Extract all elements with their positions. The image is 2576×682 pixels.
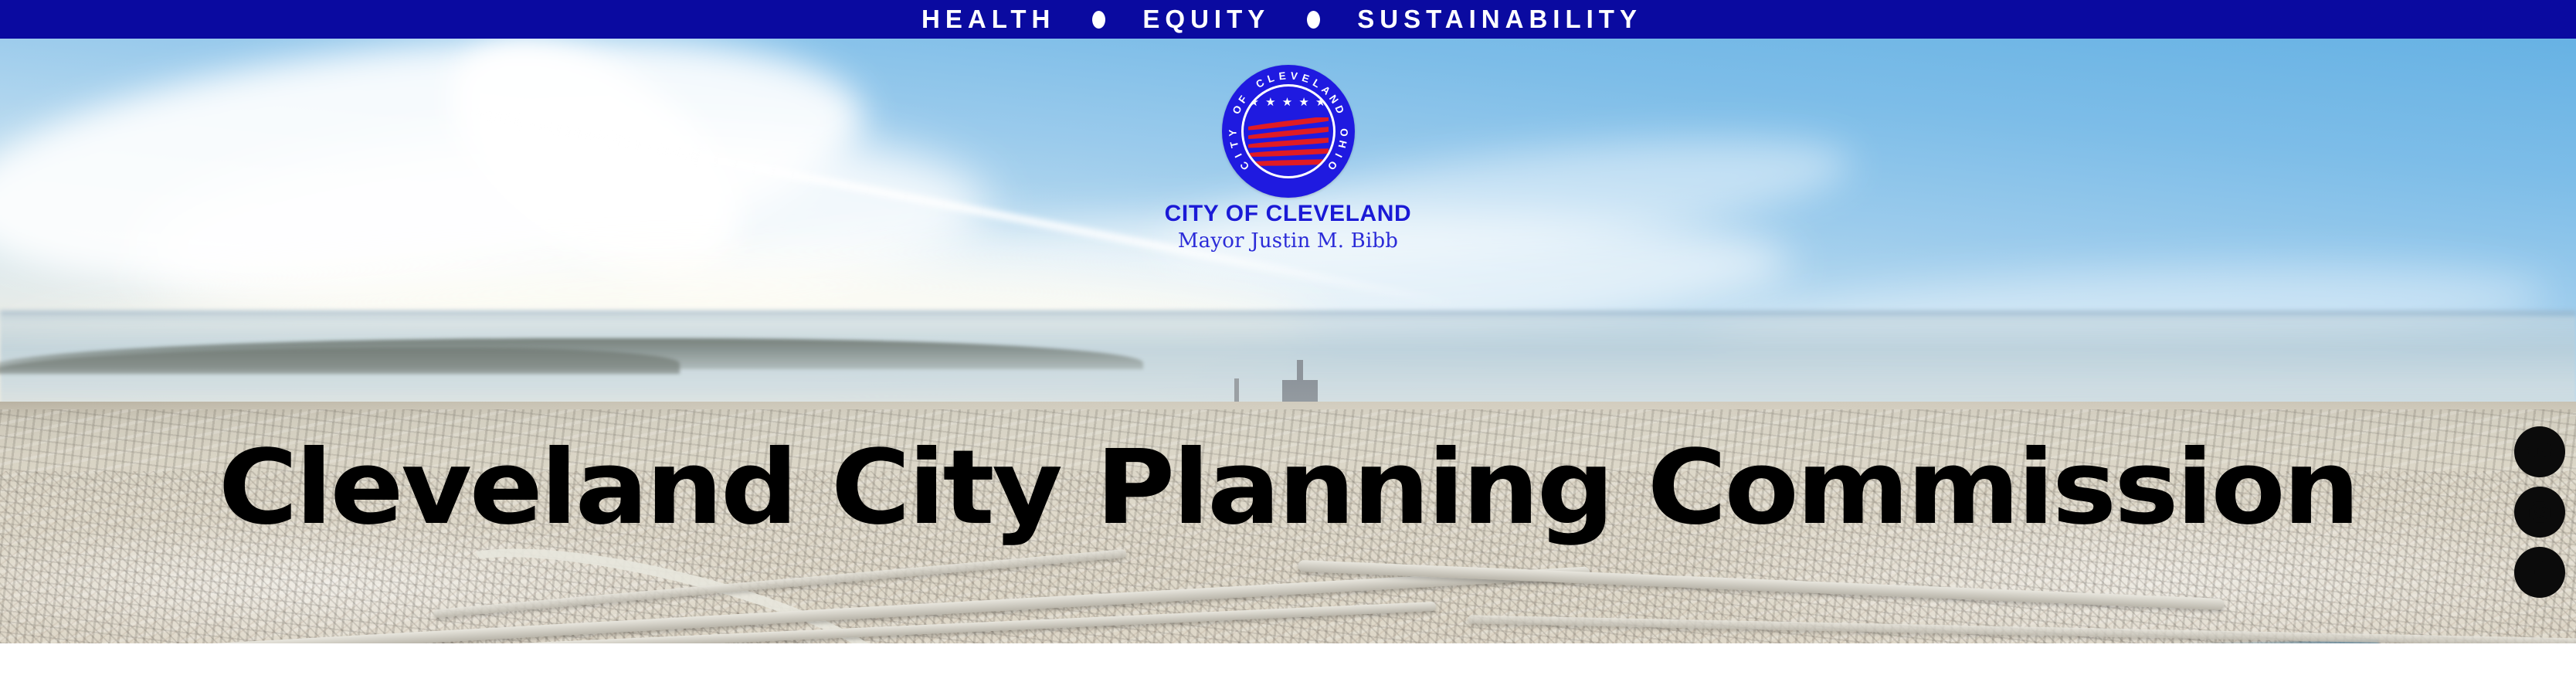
tagline-banner: HEALTH EQUITY SUSTAINABILITY bbox=[0, 0, 2576, 39]
social-links bbox=[2514, 426, 2565, 598]
city-lockup: CITY OF CLEVELAND OHIO ★ ★ ★ ★ ★ CITY OF… bbox=[0, 65, 2576, 253]
seal-stars-icon: ★ ★ ★ ★ ★ bbox=[1244, 97, 1333, 108]
city-name-label: CITY OF CLEVELAND bbox=[1165, 201, 1412, 227]
mayor-name-label: Mayor Justin M. Bibb bbox=[1178, 229, 1398, 253]
tagline-word-sustainability: SUSTAINABILITY bbox=[1357, 5, 1642, 34]
youtube-icon[interactable] bbox=[2514, 426, 2565, 477]
flag-stripe bbox=[1248, 158, 1329, 167]
city-of-cleveland-seal-icon: CITY OF CLEVELAND OHIO ★ ★ ★ ★ ★ bbox=[1222, 65, 1355, 198]
tagline-word-health: HEALTH bbox=[921, 5, 1055, 34]
bottom-white-band bbox=[0, 643, 2576, 682]
waving-flag-icon bbox=[1248, 117, 1329, 168]
tagline-group: HEALTH EQUITY SUSTAINABILITY bbox=[921, 5, 1642, 34]
bullet-dot-icon bbox=[1092, 11, 1105, 29]
facebook-icon[interactable] bbox=[2514, 547, 2565, 598]
instagram-icon[interactable] bbox=[2514, 487, 2565, 538]
page-title: Cleveland City Planning Commission bbox=[0, 437, 2576, 540]
bullet-dot-icon bbox=[1307, 11, 1320, 29]
seal-blue-disc: ★ ★ ★ ★ ★ bbox=[1244, 87, 1333, 176]
flag-stripe bbox=[1248, 147, 1329, 158]
tagline-word-equity: EQUITY bbox=[1142, 5, 1270, 34]
